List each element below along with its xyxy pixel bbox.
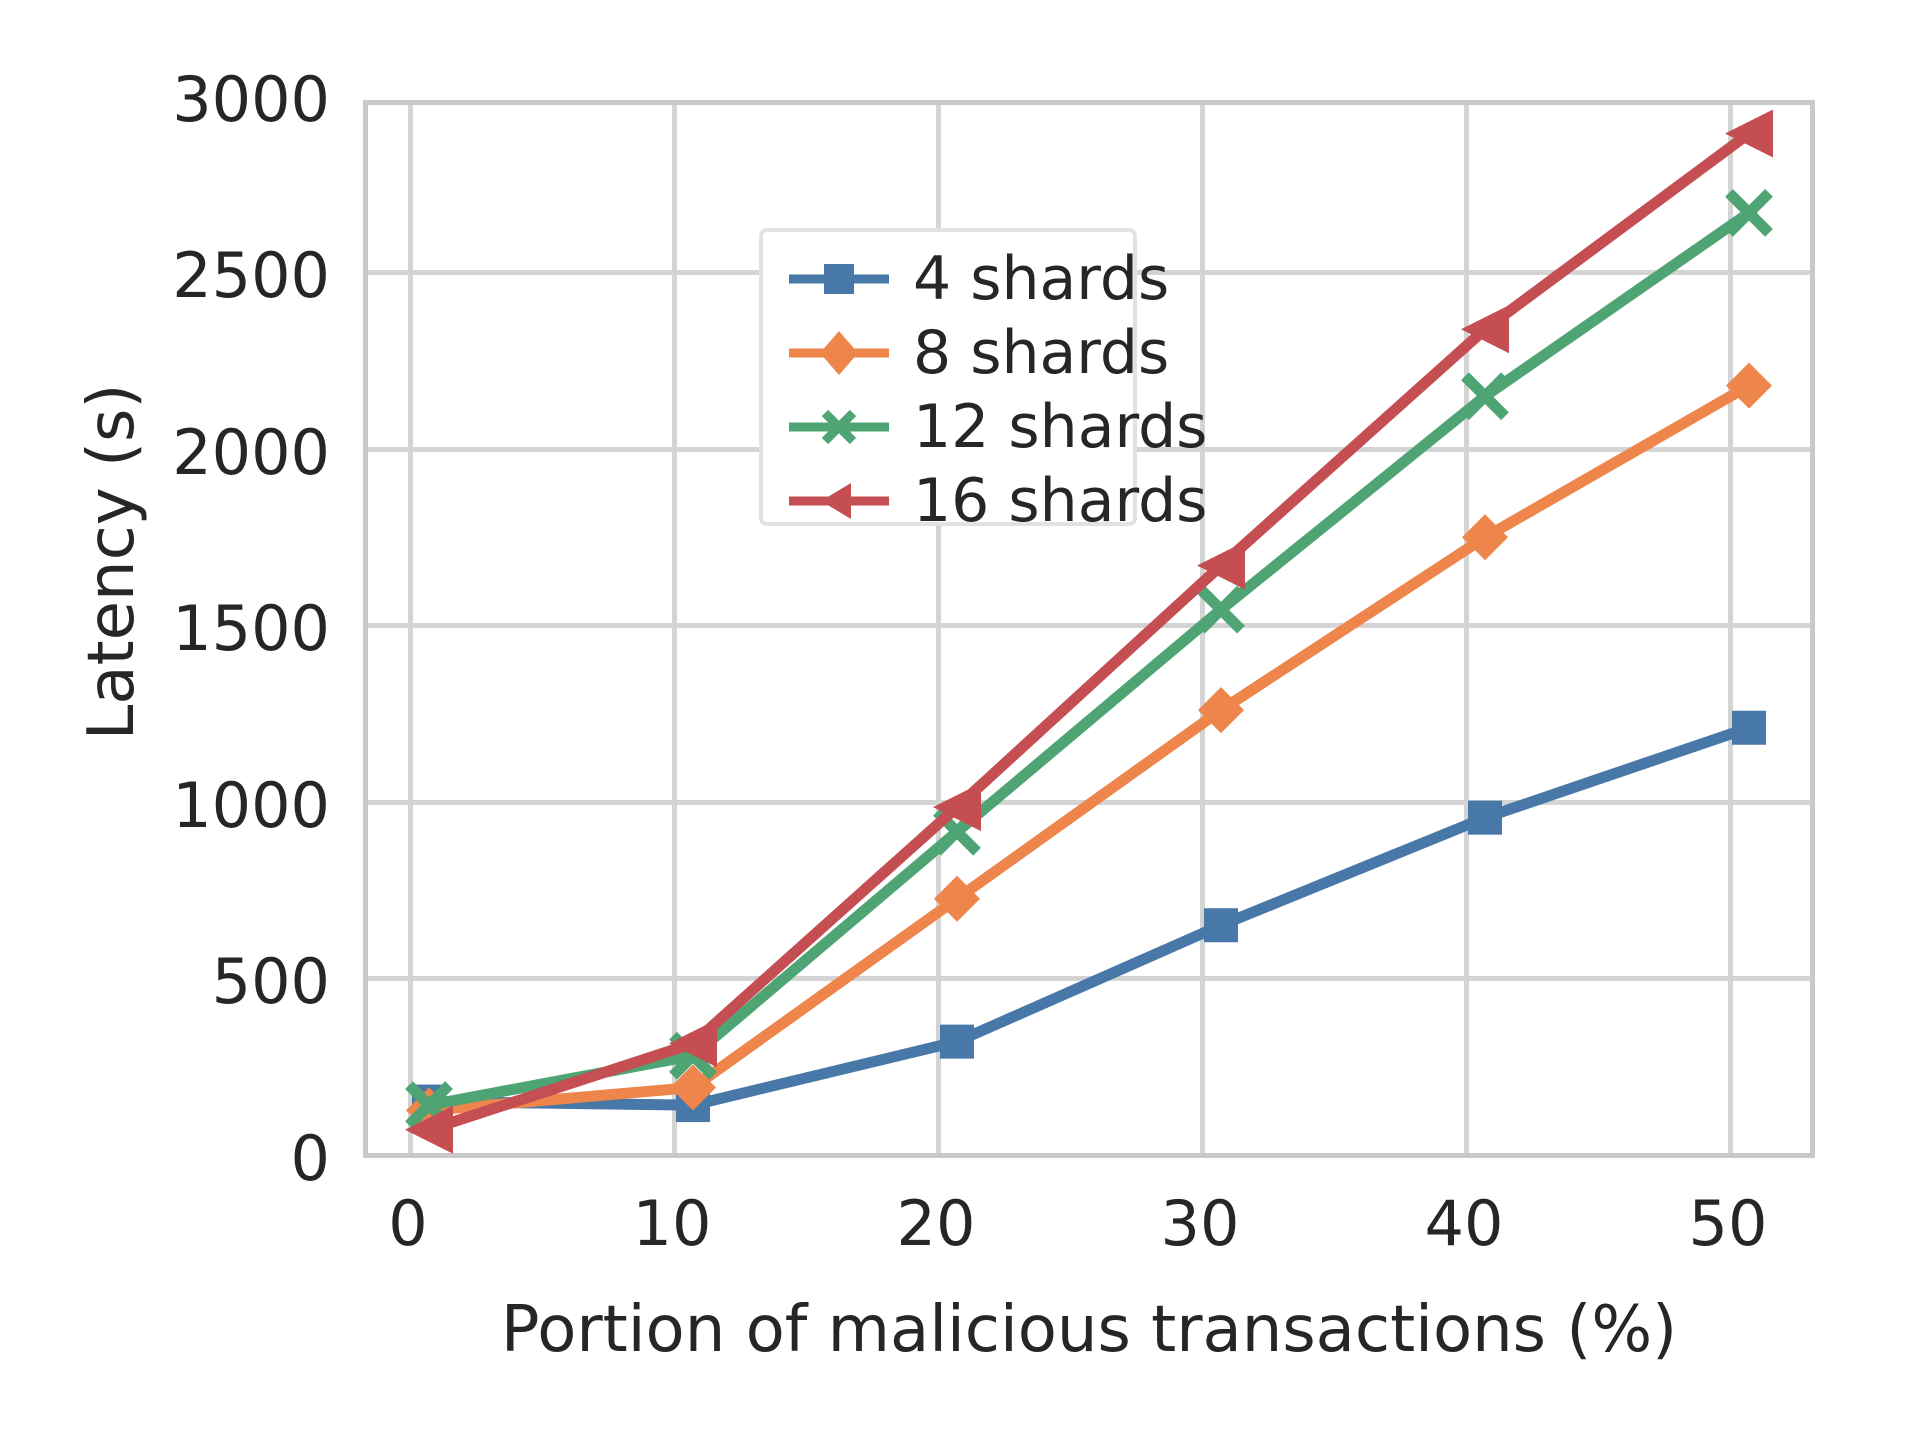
legend-label-16-shards: 16 shards bbox=[897, 471, 1207, 531]
legend-marker-diamond bbox=[781, 316, 897, 390]
x-axis-title: Portion of malicious transactions (%) bbox=[363, 1298, 1815, 1362]
y-tick-label-2000: 2000 bbox=[0, 422, 330, 484]
data-point-12-shards-30 bbox=[1201, 590, 1241, 630]
data-point-4-shards-30 bbox=[1204, 908, 1238, 942]
legend-label-4-shards: 4 shards bbox=[897, 249, 1169, 309]
x-tick-label-0: 0 bbox=[308, 1193, 508, 1255]
legend-marker-triangle-left bbox=[781, 464, 897, 538]
legend: 4 shards 8 shards 12 shards bbox=[759, 228, 1137, 526]
data-point-4-shards-50 bbox=[1732, 711, 1766, 745]
data-point-12-shards-40 bbox=[1465, 376, 1505, 416]
y-tick-label-3000: 3000 bbox=[0, 69, 330, 131]
x-tick-label-20: 20 bbox=[836, 1193, 1036, 1255]
y-tick-label-2500: 2500 bbox=[0, 245, 330, 307]
y-tick-label-1500: 1500 bbox=[0, 598, 330, 660]
data-point-8-shards-50 bbox=[1726, 363, 1772, 409]
legend-item-16-shards[interactable]: 16 shards bbox=[763, 464, 1133, 538]
y-tick-label-500: 500 bbox=[0, 951, 330, 1013]
plot-area: 4 shards 8 shards 12 shards bbox=[363, 100, 1815, 1158]
legend-marker-square bbox=[781, 242, 897, 316]
legend-label-8-shards: 8 shards bbox=[897, 323, 1169, 383]
chart-page: Latency (s) 3000 2500 2000 1500 1000 500… bbox=[0, 0, 1920, 1440]
series-line-4-shards bbox=[429, 728, 1749, 1105]
y-tick-label-1000: 1000 bbox=[0, 775, 330, 837]
x-tick-label-40: 40 bbox=[1364, 1193, 1564, 1255]
data-point-4-shards-20 bbox=[940, 1025, 974, 1059]
legend-item-4-shards[interactable]: 4 shards bbox=[763, 242, 1133, 316]
y-tick-label-0: 0 bbox=[0, 1128, 330, 1190]
data-point-12-shards-50 bbox=[1729, 193, 1769, 233]
x-tick-label-50: 50 bbox=[1628, 1193, 1828, 1255]
x-tick-label-30: 30 bbox=[1100, 1193, 1300, 1255]
legend-label-12-shards: 12 shards bbox=[897, 397, 1207, 457]
legend-item-8-shards[interactable]: 8 shards bbox=[763, 316, 1133, 390]
legend-item-12-shards[interactable]: 12 shards bbox=[763, 390, 1133, 464]
data-point-4-shards-40 bbox=[1468, 801, 1502, 835]
legend-marker-x bbox=[781, 390, 897, 464]
x-tick-label-10: 10 bbox=[572, 1193, 772, 1255]
